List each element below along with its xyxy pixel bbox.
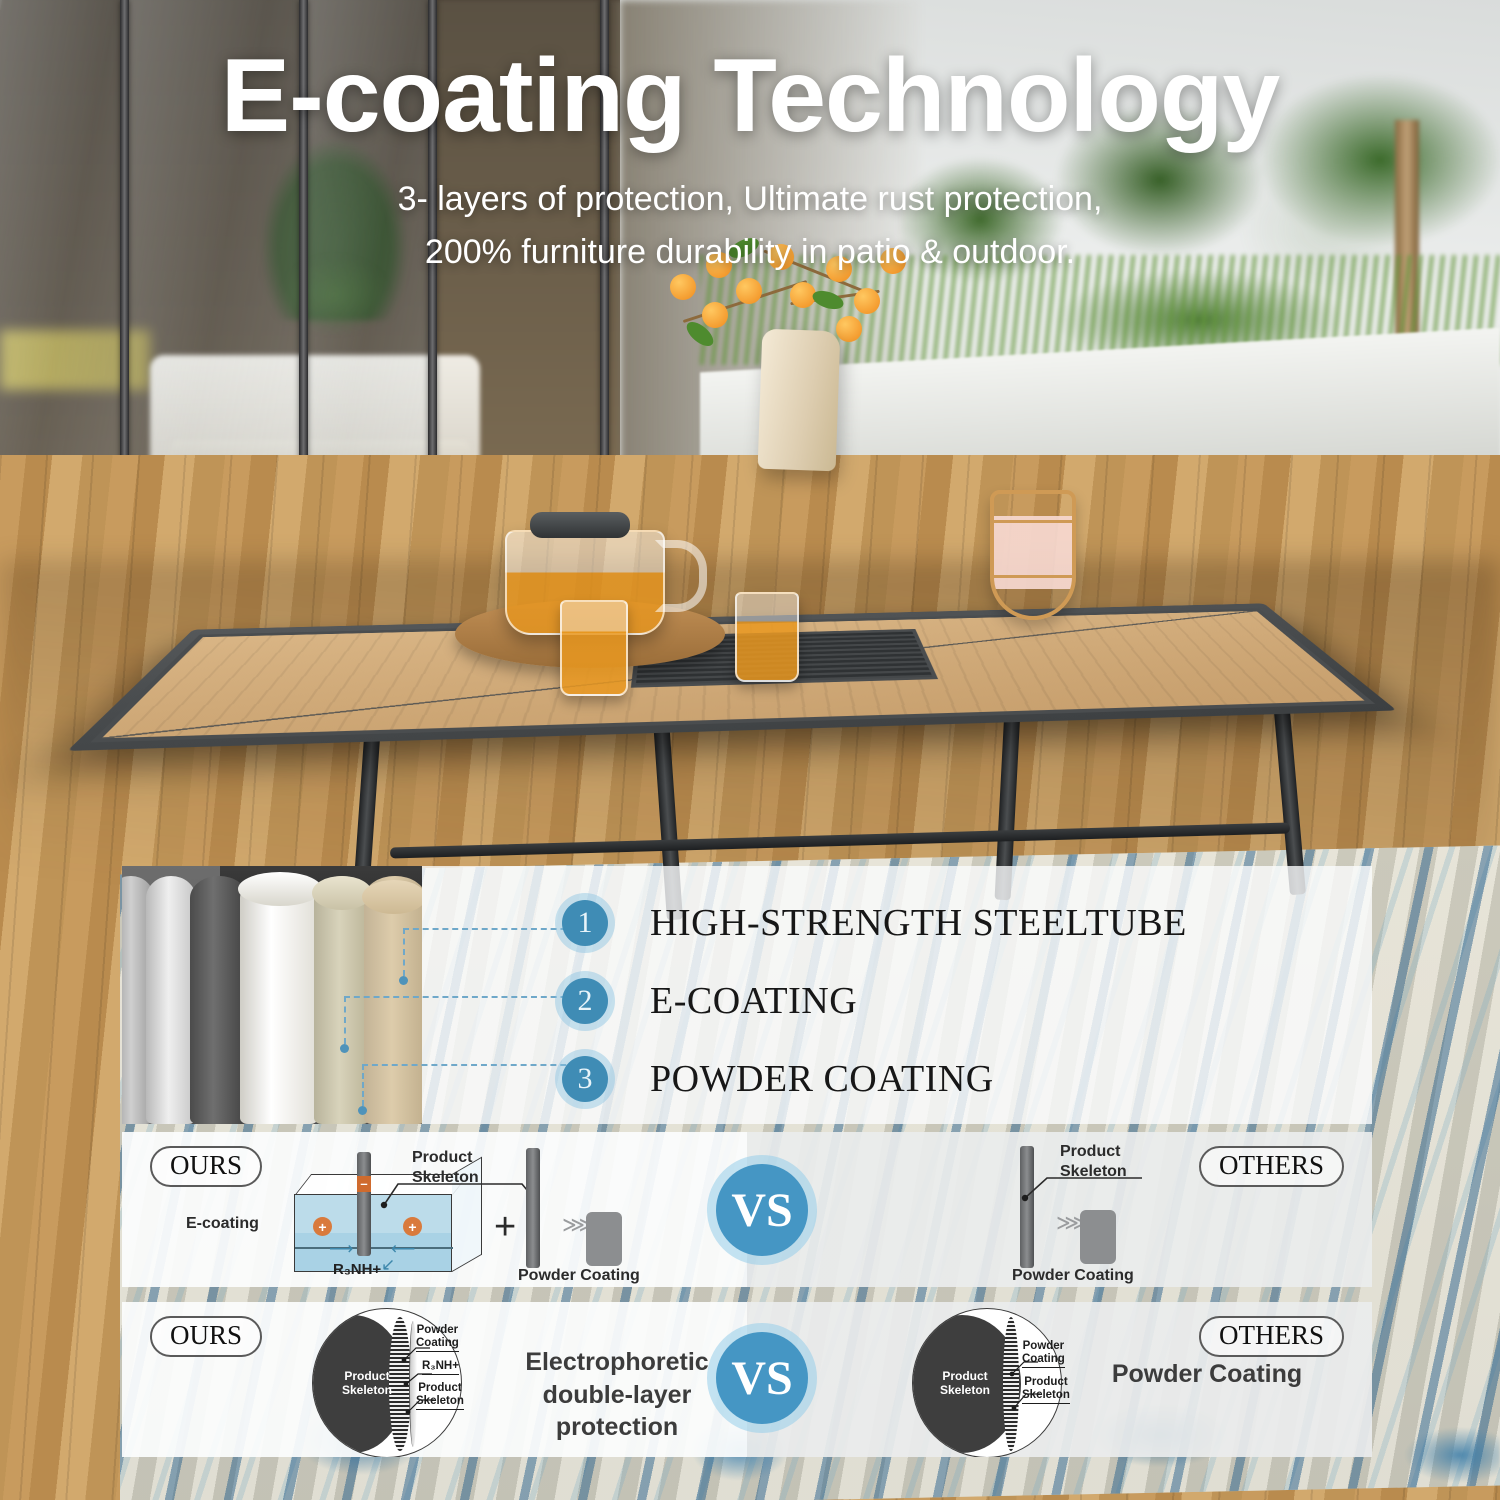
- subtitle-line-2: 200% furniture durability in patio & out…: [0, 226, 1500, 279]
- leader-line-vertical-3: [362, 1064, 364, 1106]
- cross-section-diagram-ours: Product Skeleton Powder Coating R₃NH+ Pr…: [312, 1308, 462, 1457]
- callout-number-badge: 1: [562, 900, 608, 946]
- header: E-coating Technology 3- layers of protec…: [0, 0, 1500, 279]
- ecoating-tank-label: E-coating: [186, 1214, 259, 1234]
- candle-holder-bar: [990, 575, 1076, 578]
- ours-badge: OURS: [150, 1146, 262, 1187]
- powder-coating-label-others: Powder Coating: [1012, 1266, 1134, 1286]
- callout-label: POWDER COATING: [650, 1057, 994, 1101]
- table-stretcher: [390, 822, 1290, 858]
- teapot-handle: [655, 540, 707, 612]
- vs-badge: VS: [716, 1332, 808, 1424]
- powder-coating-label-ours: Powder Coating: [518, 1266, 640, 1286]
- plus-operator: +: [494, 1206, 516, 1249]
- callout-label: E-COATING: [650, 979, 857, 1023]
- comparison-row-process: OURS OTHERS E-coating + + ⟶ ⟵ ↙ R₃NH+ – …: [122, 1132, 1372, 1287]
- layers-callout-panel: 1 HIGH-STRENGTH STEELTUBE 2 E-COATING 3 …: [122, 866, 1372, 1124]
- caption-others: Powder Coating: [1082, 1358, 1332, 1391]
- cross-section-diagram-others: Product Skeleton Powder Coating Product …: [912, 1308, 1062, 1457]
- callout-item-powdercoating: 3 POWDER COATING: [562, 1040, 1362, 1118]
- callout-list: 1 HIGH-STRENGTH STEELTUBE 2 E-COATING 3 …: [562, 884, 1362, 1118]
- tea-glass: [560, 600, 628, 696]
- powder-spray-gun-others: [1080, 1210, 1116, 1264]
- leader-dot-1: [399, 976, 408, 985]
- product-skeleton-label-ours: Product Skeleton: [412, 1148, 479, 1188]
- layer-label-powder-coating: Powder Coating: [416, 1324, 459, 1352]
- layer-label-product-skeleton: Product Skeleton: [416, 1382, 464, 1410]
- layer-roll-white: [240, 876, 318, 1124]
- page-subtitle: 3- layers of protection, Ultimate rust p…: [0, 173, 1500, 278]
- tank-front-face: + + ⟶ ⟵ ↙ R₃NH+: [294, 1194, 452, 1272]
- ours-badge: OURS: [150, 1316, 262, 1357]
- product-skeleton-rod-others: [1020, 1146, 1034, 1268]
- positive-ion: +: [313, 1217, 332, 1236]
- subtitle-line-1: 3- layers of protection, Ultimate rust p…: [0, 173, 1500, 226]
- rolled-layers-photo: [122, 866, 422, 1124]
- others-badge: OTHERS: [1199, 1316, 1344, 1357]
- negative-electrode: –: [357, 1176, 371, 1192]
- table-surface: [90, 608, 1375, 742]
- layer-label-product-skeleton: Product Skeleton: [1022, 1376, 1070, 1404]
- table-top: [67, 603, 1397, 751]
- core-label: Product Skeleton: [331, 1369, 403, 1398]
- powder-spray-gun: [586, 1212, 622, 1266]
- layer-label-ecoating: R₃NH+: [422, 1360, 459, 1375]
- product-skeleton-rod: [526, 1148, 540, 1268]
- patio-table: [60, 450, 1460, 920]
- callout-number-badge: 2: [562, 978, 608, 1024]
- callout-label: HIGH-STRENGTH STEELTUBE: [650, 901, 1187, 945]
- positive-ion: +: [403, 1217, 422, 1236]
- coating-hatch-layer: [1003, 1317, 1019, 1451]
- candle-holder: [990, 490, 1076, 620]
- leader-dot-2: [340, 1044, 349, 1053]
- comparison-row-crosssection: OURS OTHERS Product Skeleton Powder Coat…: [122, 1302, 1372, 1457]
- teapot-lid: [530, 512, 630, 538]
- leader-line-2: [344, 996, 596, 998]
- leader-line-vertical-1: [403, 928, 405, 976]
- vs-badge: VS: [716, 1164, 808, 1256]
- candle-holder-bar: [990, 520, 1076, 523]
- ceramic-vase: [758, 329, 841, 472]
- caption-ours: Electrophoretic double-layer protection: [492, 1346, 742, 1444]
- layer-roll-edge: [238, 872, 322, 906]
- leader-line-3: [362, 1064, 596, 1066]
- layer-roll-edge: [362, 880, 422, 914]
- product-skeleton-label-others: Product Skeleton: [1060, 1142, 1127, 1182]
- immersed-product-skeleton: [357, 1152, 371, 1256]
- layer-roll-white-back: [146, 876, 196, 1124]
- callout-number-badge: 3: [562, 1056, 608, 1102]
- layer-label-powder-coating: Powder Coating: [1022, 1340, 1065, 1368]
- tank-waterline: [295, 1247, 453, 1249]
- callout-item-steeltube: 1 HIGH-STRENGTH STEELTUBE: [562, 884, 1362, 962]
- callout-item-ecoating: 2 E-COATING: [562, 962, 1362, 1040]
- ecoating-tank-diagram: + + ⟶ ⟵ ↙ R₃NH+: [294, 1180, 494, 1272]
- tea-glass: [735, 592, 799, 682]
- page-title: E-coating Technology: [0, 42, 1500, 151]
- core-label: Product Skeleton: [929, 1369, 1001, 1398]
- leader-dot-3: [358, 1106, 367, 1115]
- others-badge: OTHERS: [1199, 1146, 1344, 1187]
- solution-formula: R₃NH+: [333, 1261, 381, 1278]
- leader-line-vertical-2: [344, 996, 346, 1044]
